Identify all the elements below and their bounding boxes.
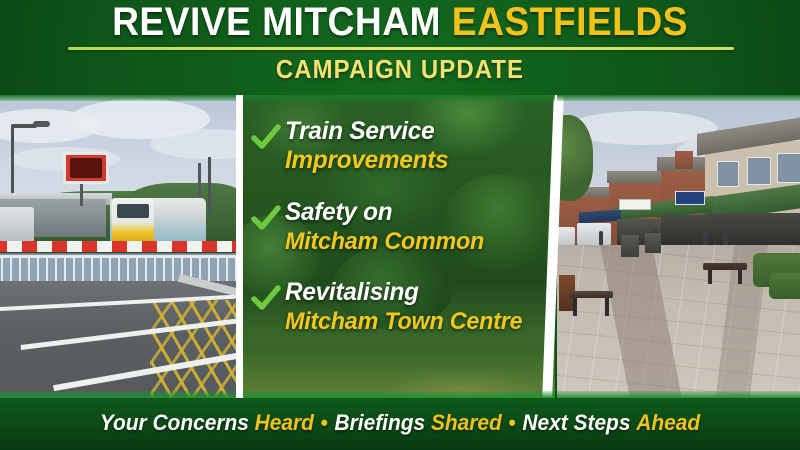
bench-leg: [708, 270, 712, 284]
bench: [703, 263, 747, 285]
check-icon: [251, 123, 281, 153]
shopfront: [661, 215, 709, 245]
pedestrian: [599, 231, 603, 245]
checklist: Train Service Improvements Safety on Mit…: [243, 95, 555, 398]
footer-segment-3-accent: Ahead: [636, 410, 700, 435]
footer-segment-2-accent: Shared: [431, 410, 502, 435]
footer-separator: •: [502, 410, 523, 435]
bus: [0, 207, 34, 243]
shop-sign: [619, 199, 651, 210]
photo-bottom-edge: [557, 391, 800, 398]
title-gold-part: EASTFIELDS: [452, 0, 688, 44]
bench-seat: [569, 291, 613, 298]
footer-tagline: Your Concerns Heard•Briefings Shared•Nex…: [20, 409, 780, 437]
planter: [621, 235, 639, 257]
pedestrian: [703, 227, 708, 245]
campaign-poster: REVIVE MITCHAM EASTFIELDS CAMPAIGN UPDAT…: [0, 0, 800, 450]
list-item-line1: Train Service: [285, 117, 545, 146]
check-icon: [251, 204, 281, 234]
van: [577, 223, 611, 245]
subtitle: CAMPAIGN UPDATE: [32, 54, 768, 84]
hedge: [769, 273, 800, 299]
planter: [645, 233, 661, 253]
warning-light-icon: [63, 152, 109, 184]
footer-segment-2-plain: Briefings: [335, 410, 426, 435]
photo-bottom-edge: [0, 391, 236, 398]
photo-bottom-edge: [243, 391, 555, 398]
page-title: REVIVE MITCHAM EASTFIELDS: [28, 2, 772, 42]
street-lamp-head: [33, 121, 50, 127]
crossing-barrier: [0, 241, 236, 252]
train-window: [117, 204, 149, 218]
check-icon: [251, 284, 281, 314]
photo-top-edge: [0, 95, 236, 101]
photo-top-edge: [243, 95, 555, 101]
list-item-line2: Mitcham Common: [285, 227, 545, 256]
chimney: [675, 151, 693, 169]
bench-leg: [738, 270, 742, 284]
photo-band: Train Service Improvements Safety on Mit…: [0, 95, 800, 398]
list-item-line1: Revitalising: [285, 278, 545, 307]
list-item-text: Safety on Mitcham Common: [285, 198, 553, 256]
footer-segment-1-accent: Heard: [255, 410, 314, 435]
poster-footer: Your Concerns Heard•Briefings Shared•Nex…: [0, 398, 800, 450]
yellow-hatch-markings: [150, 300, 236, 398]
signal-pole: [208, 157, 211, 215]
bench-seat: [703, 263, 747, 270]
list-item-text: Train Service Improvements: [285, 117, 553, 175]
pedestrian: [723, 225, 728, 245]
title-divider: [68, 47, 734, 50]
window: [747, 157, 771, 185]
bench-leg: [573, 298, 577, 316]
high-street-photo: [557, 95, 800, 398]
title-white-part: REVIVE MITCHAM: [112, 0, 441, 44]
van: [557, 227, 575, 245]
list-item-text: Revitalising Mitcham Town Centre: [285, 278, 553, 336]
footer-separator: •: [314, 410, 335, 435]
window: [777, 153, 800, 183]
list-item-line2: Mitcham Town Centre: [285, 307, 545, 336]
level-crossing-photo: [0, 95, 236, 398]
panel-divider: [236, 95, 243, 398]
footer-segment-3-plain: Next Steps: [522, 410, 630, 435]
shop-sign: [675, 191, 705, 205]
checklist-panel: Train Service Improvements Safety on Mit…: [243, 95, 555, 398]
shopfront: [707, 213, 800, 247]
bench-leg: [605, 298, 609, 316]
poster-header: REVIVE MITCHAM EASTFIELDS CAMPAIGN UPDAT…: [0, 0, 800, 95]
bench: [569, 291, 613, 317]
list-item-line1: Safety on: [285, 198, 545, 227]
window: [717, 161, 739, 187]
list-item-line2: Improvements: [285, 146, 545, 175]
footer-segment-1-plain: Your Concerns: [100, 410, 249, 435]
photo-top-edge: [557, 95, 800, 101]
